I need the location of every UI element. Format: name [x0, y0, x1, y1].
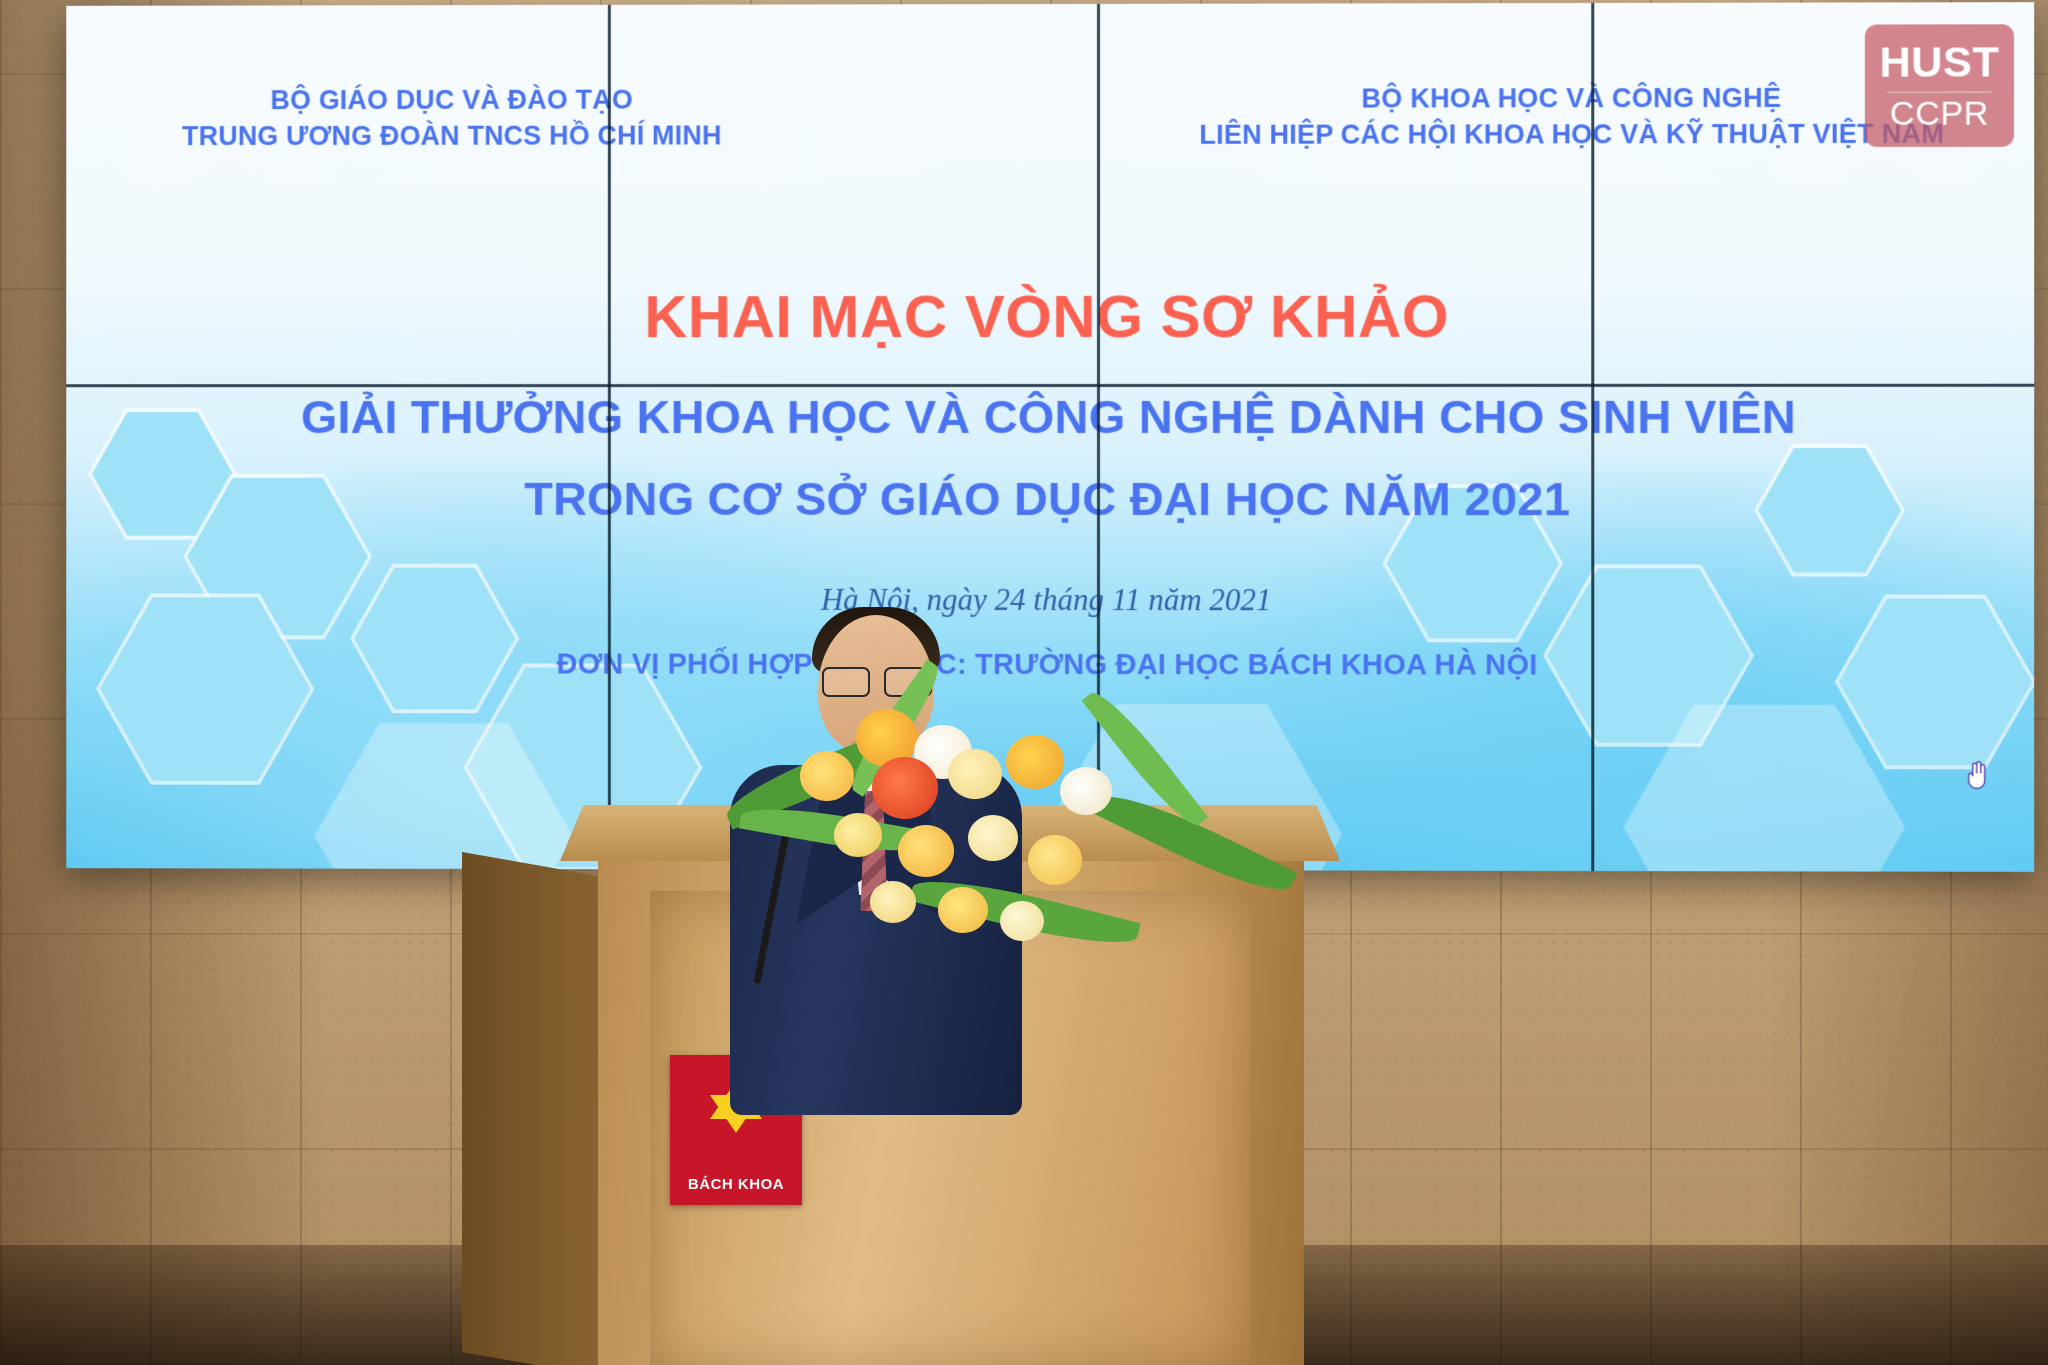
slide-header-right: BỘ KHOA HỌC VÀ CÔNG NGHỆ LIÊN HIỆP CÁC H…	[1190, 81, 1953, 153]
header-right-line-1: BỘ KHOA HỌC VÀ CÔNG NGHỆ	[1190, 81, 1953, 118]
slide-title-blue-line-2: TRONG CƠ SỞ GIÁO DỤC ĐẠI HỌC NĂM 2021	[66, 471, 2034, 527]
videowall-seam-vertical	[1591, 3, 1594, 871]
watermark-hust-text: HUST	[1879, 41, 1999, 84]
watermark-ccpr-text: CCPR	[1890, 96, 1989, 130]
flower-bloom	[968, 815, 1018, 861]
slide-title-red: KHAI MẠC VÒNG SƠ KHẢO	[66, 281, 2034, 351]
header-left-line-1: BỘ GIÁO DỤC VÀ ĐÀO TẠO	[144, 82, 761, 118]
flower-arrangement	[760, 705, 1380, 1035]
videowall-seam-horizontal	[66, 384, 2034, 387]
hand-pointer-cursor[interactable]	[1965, 760, 1989, 790]
flower-bloom	[1060, 767, 1112, 815]
header-right-line-2: LIÊN HIỆP CÁC HỘI KHOA HỌC VÀ KỸ THUẬT V…	[1190, 116, 1953, 153]
videowall-seam-vertical	[608, 5, 611, 869]
flower-bloom	[938, 887, 988, 933]
header-left-line-2: TRUNG ƯƠNG ĐOÀN TNCS HỒ CHÍ MINH	[144, 118, 761, 154]
watermark-divider	[1887, 91, 1992, 92]
flower-bloom	[898, 825, 954, 877]
flower-bloom	[948, 749, 1002, 799]
flower-bloom	[800, 751, 854, 801]
hust-ccpr-watermark: HUST CCPR	[1865, 24, 2014, 147]
flower-bloom	[870, 881, 916, 923]
glasses-lens-left	[822, 667, 870, 697]
podium-emblem-label: BÁCH KHOA	[688, 1176, 784, 1193]
podium-side-panel	[462, 852, 610, 1365]
screenshot-root: BỘ GIÁO DỤC VÀ ĐÀO TẠO TRUNG ƯƠNG ĐOÀN T…	[0, 0, 2048, 1365]
flower-bloom	[1006, 735, 1064, 789]
flower-bloom	[872, 757, 938, 819]
slide-title-blue-line-1: GIẢI THƯỞNG KHOA HỌC VÀ CÔNG NGHỆ DÀNH C…	[66, 389, 2034, 444]
flower-bloom	[1028, 835, 1082, 885]
flower-bloom	[1000, 901, 1044, 941]
slide-date-line: Hà Nội, ngày 24 tháng 11 năm 2021	[66, 581, 2034, 618]
slide-header-left: BỘ GIÁO DỤC VÀ ĐÀO TẠO TRUNG ƯƠNG ĐOÀN T…	[144, 82, 761, 154]
slide-organizer-line: ĐƠN VỊ PHỐI HỢP TỔ CHỨC: TRƯỜNG ĐẠI HỌC …	[66, 648, 2034, 683]
flower-bloom	[834, 813, 882, 857]
